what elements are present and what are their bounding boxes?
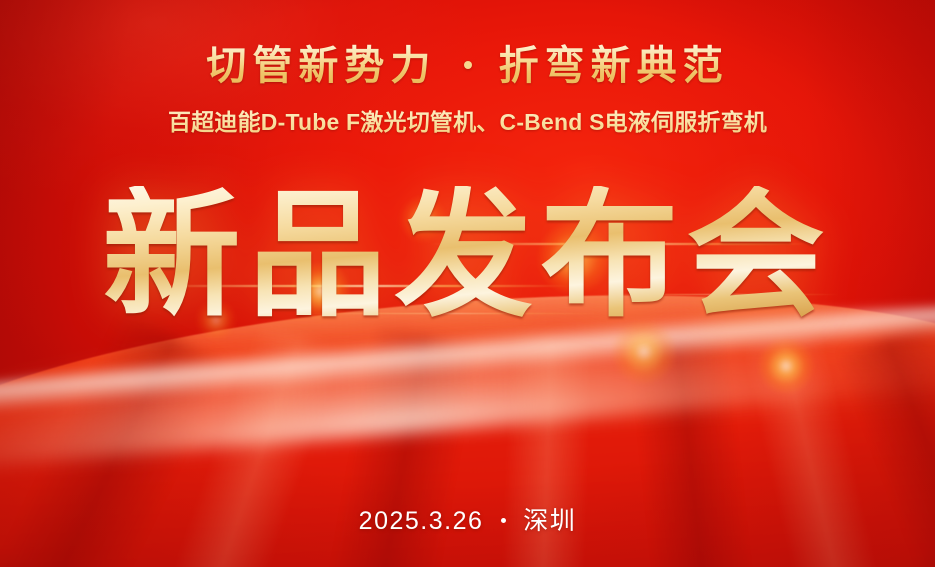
page-title: 新品发布会 — [0, 186, 935, 324]
tagline-dot-separator-icon — [464, 61, 472, 69]
tagline: 切管新势力 折弯新典范 — [206, 42, 728, 90]
tagline-part-2: 折弯新典范 — [499, 44, 729, 88]
event-date: 2025.3.26 — [359, 507, 484, 535]
poster-content: 切管新势力 折弯新典范 百超迪能D‑Tube F激光切管机、C-Bend S电液… — [0, 0, 935, 567]
event-poster: 切管新势力 折弯新典范 百超迪能D‑Tube F激光切管机、C-Bend S电液… — [0, 0, 935, 567]
date-dot-separator-icon — [501, 518, 506, 523]
tagline-part-1: 切管新势力 — [206, 44, 436, 88]
event-date-location: 2025.3.26 深圳 — [0, 501, 935, 537]
product-subtitle: 百超迪能D‑Tube F激光切管机、C-Bend S电液伺服折弯机 — [168, 103, 767, 137]
event-city: 深圳 — [523, 507, 576, 535]
